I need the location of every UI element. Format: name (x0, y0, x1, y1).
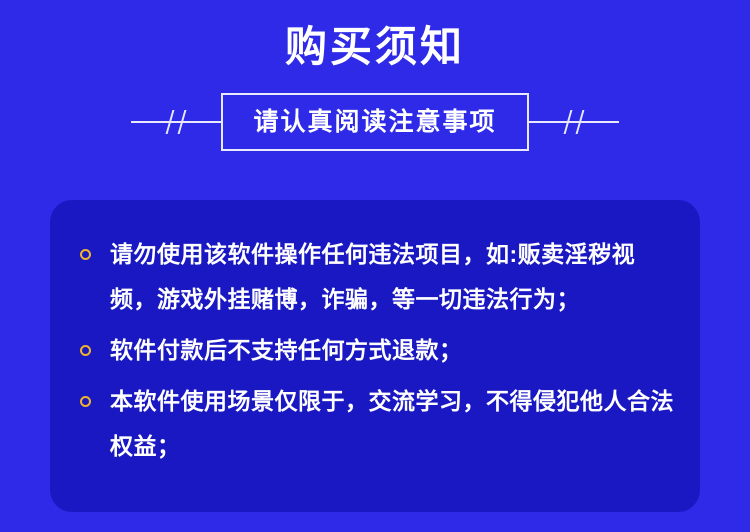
notice-item-text: 本软件使用场景仅限于，交流学习，不得侵犯他人合法权益； (110, 379, 674, 469)
notice-card: 请勿使用该软件操作任何违法项目，如:贩卖淫秽视频，游戏外挂赌博，诈骗，等一切违法… (50, 200, 700, 512)
right-ornament-icon (529, 107, 619, 137)
purchase-notice-poster: 购买须知 请认真阅读注意事项 请勿使用该软件操作任何违法项目，如:贩卖淫秽视频，… (0, 0, 750, 532)
subtitle-row: 请认真阅读注意事项 (0, 92, 750, 152)
ring-bullet-icon (80, 345, 91, 356)
notice-list: 请勿使用该软件操作任何违法项目，如:贩卖淫秽视频，游戏外挂赌博，诈骗，等一切违法… (76, 232, 674, 469)
left-rule-line (131, 121, 221, 123)
subtitle-text: 请认真阅读注意事项 (253, 107, 496, 137)
notice-item-text: 软件付款后不支持任何方式退款； (110, 328, 674, 373)
page-title: 购买须知 (0, 22, 750, 72)
list-item: 请勿使用该软件操作任何违法项目，如:贩卖淫秽视频，游戏外挂赌博，诈骗，等一切违法… (76, 232, 674, 322)
list-item: 本软件使用场景仅限于，交流学习，不得侵犯他人合法权益； (76, 379, 674, 469)
poster-header: 购买须知 请认真阅读注意事项 (0, 0, 750, 200)
notice-item-text: 请勿使用该软件操作任何违法项目，如:贩卖淫秽视频，游戏外挂赌博，诈骗，等一切违法… (110, 232, 674, 322)
right-rule-line (529, 121, 619, 123)
list-item: 软件付款后不支持任何方式退款； (76, 328, 674, 373)
subtitle-box: 请认真阅读注意事项 (221, 93, 529, 151)
ring-bullet-icon (80, 249, 91, 260)
ring-bullet-icon (80, 396, 91, 407)
left-ornament-icon (131, 107, 221, 137)
